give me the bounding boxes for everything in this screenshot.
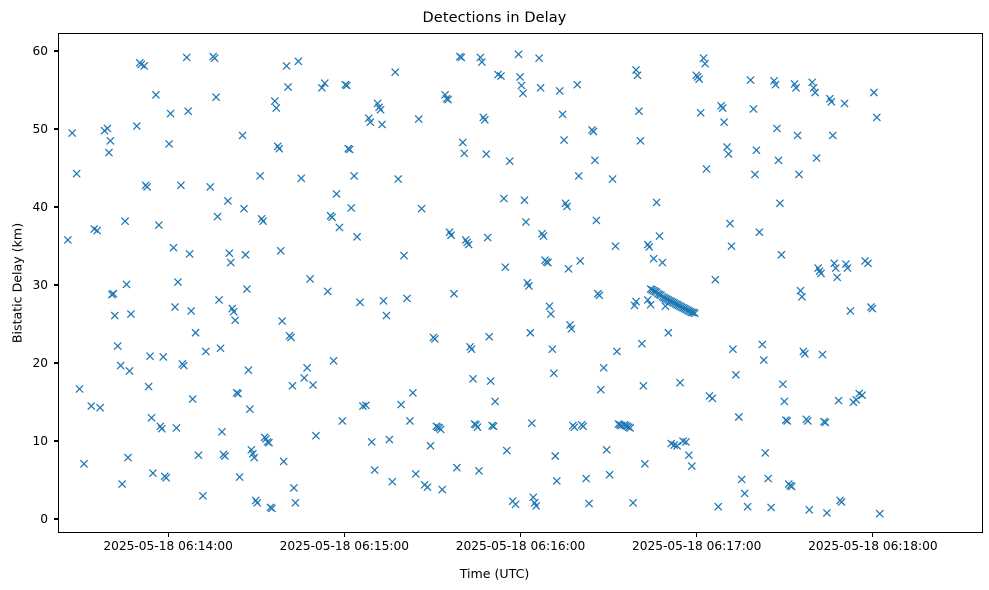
data-point-marker	[283, 63, 290, 69]
data-point-marker	[642, 461, 649, 468]
data-point-marker	[741, 490, 748, 497]
data-point-marker	[483, 151, 490, 158]
data-point-marker	[750, 106, 757, 113]
data-point-marker	[313, 432, 320, 439]
data-point-marker	[380, 298, 387, 305]
data-point-marker	[819, 351, 826, 358]
data-point-marker	[847, 308, 854, 315]
data-point-marker	[640, 383, 647, 390]
y-tick-mark	[54, 50, 58, 51]
data-point-marker	[123, 281, 130, 288]
data-point-marker	[486, 333, 493, 340]
data-point-marker	[141, 63, 148, 69]
data-point-marker	[665, 330, 672, 337]
data-point-marker	[548, 311, 555, 318]
data-point-marker	[69, 130, 76, 137]
data-point-marker	[232, 317, 239, 324]
data-point-marker	[677, 379, 684, 386]
data-point-marker	[217, 345, 224, 352]
data-point-marker	[122, 218, 129, 225]
data-point-marker	[727, 220, 734, 227]
data-point-marker	[583, 475, 590, 482]
data-point-marker	[484, 234, 491, 241]
y-tick-mark	[54, 440, 58, 441]
x-tick-label: 2025-05-18 06:15:00	[280, 539, 409, 553]
data-point-marker	[830, 132, 837, 139]
data-point-marker	[213, 94, 220, 101]
data-point-marker	[476, 468, 483, 475]
data-point-marker	[586, 500, 593, 507]
data-point-marker	[736, 414, 743, 421]
data-point-marker	[703, 166, 710, 173]
data-point-marker	[241, 205, 248, 212]
data-point-marker	[76, 386, 83, 393]
data-point-marker	[254, 500, 261, 507]
data-point-marker	[307, 276, 314, 283]
data-point-marker	[738, 476, 745, 483]
data-point-marker	[577, 258, 584, 265]
data-point-marker	[128, 311, 135, 318]
data-point-marker	[94, 227, 101, 234]
data-point-marker	[859, 392, 866, 399]
data-point-marker	[178, 182, 185, 189]
data-point-marker	[523, 219, 530, 226]
data-point-marker	[504, 447, 511, 454]
data-point-marker	[835, 397, 842, 404]
data-point-marker	[759, 341, 766, 348]
x-tick-label: 2025-05-18 06:16:00	[456, 539, 585, 553]
data-point-marker	[646, 244, 653, 251]
data-point-marker	[733, 372, 740, 379]
data-point-marker	[520, 90, 527, 97]
data-point-marker	[689, 463, 696, 470]
x-tick-mark	[696, 533, 697, 537]
data-point-marker	[351, 173, 358, 180]
data-point-marker	[279, 318, 286, 325]
y-tick-mark	[54, 362, 58, 363]
data-point-marker	[119, 481, 125, 488]
scatter-layer	[59, 34, 983, 533]
data-point-marker	[813, 155, 820, 162]
data-point-marker	[160, 354, 167, 361]
data-point-marker	[556, 88, 563, 95]
data-point-marker	[65, 237, 72, 244]
data-point-marker	[418, 205, 425, 212]
data-point-marker	[515, 51, 522, 58]
data-point-marker	[697, 110, 704, 117]
data-point-marker	[106, 149, 113, 156]
data-point-marker	[831, 260, 838, 267]
data-point-marker	[468, 346, 475, 353]
data-point-marker	[865, 260, 872, 267]
data-point-marker	[517, 74, 524, 81]
data-point-marker	[756, 229, 763, 236]
data-point-marker	[97, 404, 104, 411]
data-point-marker	[415, 116, 422, 123]
data-point-marker	[780, 381, 787, 388]
data-point-marker	[559, 111, 566, 118]
data-point-marker	[747, 77, 754, 84]
data-point-marker	[189, 396, 196, 403]
data-point-marker	[492, 398, 499, 405]
data-point-marker	[401, 252, 408, 259]
data-point-marker	[721, 119, 728, 126]
data-point-marker	[871, 89, 878, 96]
data-point-marker	[507, 158, 514, 165]
data-point-marker	[874, 114, 881, 121]
data-point-marker	[540, 233, 547, 240]
data-point-marker	[292, 500, 299, 507]
data-point-marker	[806, 507, 813, 514]
data-point-marker	[159, 425, 166, 432]
data-point-marker	[247, 406, 254, 413]
data-point-marker	[796, 171, 803, 178]
data-point-marker	[775, 157, 782, 164]
data-point-marker	[324, 288, 331, 295]
data-point-marker	[552, 453, 559, 460]
data-point-marker	[461, 150, 468, 157]
data-point-marker	[379, 121, 386, 128]
data-point-marker	[606, 471, 613, 478]
data-point-marker	[659, 259, 666, 266]
data-point-marker	[712, 276, 719, 283]
y-tick-label: 30	[0, 278, 48, 292]
y-tick-mark	[54, 206, 58, 207]
x-axis-label: Time (UTC)	[0, 566, 989, 581]
data-point-marker	[810, 85, 817, 92]
data-point-marker	[214, 213, 221, 220]
data-point-marker	[479, 59, 486, 66]
data-point-marker	[280, 458, 287, 465]
data-point-marker	[298, 175, 305, 182]
data-point-marker	[565, 266, 572, 273]
data-point-marker	[498, 73, 505, 80]
data-point-marker	[460, 139, 467, 146]
data-point-marker	[383, 312, 390, 319]
data-point-marker	[686, 452, 693, 459]
data-point-marker	[134, 123, 141, 130]
data-point-marker	[551, 370, 558, 377]
data-point-marker	[518, 82, 525, 89]
data-point-marker	[609, 176, 616, 183]
x-tick-label: 2025-05-18 06:14:00	[103, 539, 232, 553]
data-point-marker	[260, 218, 267, 225]
data-point-marker	[502, 264, 509, 271]
data-point-marker	[291, 485, 298, 492]
data-point-marker	[244, 286, 251, 293]
data-point-marker	[104, 125, 111, 132]
data-point-marker	[310, 382, 317, 389]
data-point-marker	[166, 141, 173, 148]
chart-title: Detections in Delay	[0, 10, 989, 26]
data-point-marker	[812, 89, 819, 96]
data-point-marker	[715, 503, 722, 510]
data-point-marker	[774, 125, 781, 132]
y-tick-label: 10	[0, 434, 48, 448]
data-point-marker	[802, 351, 809, 358]
data-point-marker	[877, 510, 884, 516]
data-point-marker	[203, 348, 210, 355]
data-point-marker	[592, 157, 599, 164]
data-point-marker	[407, 418, 414, 425]
data-point-marker	[574, 81, 581, 88]
data-point-marker	[482, 117, 489, 124]
data-point-marker	[295, 58, 302, 65]
data-point-marker	[236, 474, 243, 481]
data-point-marker	[173, 425, 180, 432]
data-point-marker	[777, 200, 784, 207]
y-tick-label: 50	[0, 122, 48, 136]
data-point-marker	[301, 375, 308, 382]
data-point-marker	[242, 252, 249, 259]
data-point-marker	[603, 447, 610, 454]
data-point-marker	[371, 467, 378, 474]
x-tick-mark	[872, 533, 873, 537]
data-point-marker	[170, 244, 177, 251]
data-point-marker	[765, 475, 772, 482]
data-point-marker	[593, 217, 600, 224]
data-point-marker	[185, 108, 192, 115]
data-point-marker	[148, 415, 155, 422]
data-point-marker	[239, 132, 246, 139]
data-point-marker	[561, 137, 568, 144]
data-point-marker	[709, 395, 716, 402]
data-point-marker	[183, 54, 190, 61]
data-point-marker	[744, 503, 751, 510]
y-tick-mark	[54, 284, 58, 285]
data-point-marker	[413, 471, 420, 478]
x-tick-label: 2025-05-18 06:18:00	[808, 539, 937, 553]
data-point-marker	[276, 145, 283, 152]
data-point-marker	[257, 173, 264, 180]
data-point-marker	[824, 510, 831, 517]
data-point-marker	[600, 365, 607, 372]
data-point-marker	[195, 452, 202, 459]
data-point-marker	[598, 386, 605, 393]
data-point-marker	[728, 243, 735, 250]
data-point-marker	[639, 340, 646, 347]
data-point-marker	[395, 176, 402, 183]
data-point-marker	[549, 346, 556, 353]
data-point-marker	[88, 403, 95, 410]
data-point-marker	[175, 279, 182, 286]
data-point-marker	[501, 195, 508, 202]
data-point-marker	[207, 184, 214, 191]
y-tick-label: 60	[0, 44, 48, 58]
data-point-marker	[521, 197, 528, 204]
data-point-marker	[125, 454, 132, 461]
data-point-marker	[330, 358, 337, 365]
data-point-marker	[725, 151, 732, 158]
matplotlib-figure: Detections in Delay Bistatic Delay (km) …	[0, 0, 989, 590]
data-point-marker	[636, 108, 643, 115]
data-point-marker	[112, 312, 119, 319]
y-tick-mark	[54, 128, 58, 129]
data-point-marker	[167, 110, 174, 117]
data-point-marker	[377, 106, 384, 113]
data-point-marker	[781, 398, 788, 405]
data-point-marker	[272, 98, 279, 105]
data-point-marker	[81, 461, 88, 468]
data-point-marker	[753, 147, 760, 154]
data-point-marker	[289, 383, 296, 390]
data-point-marker	[662, 303, 669, 310]
data-point-marker	[348, 205, 355, 212]
data-point-marker	[107, 138, 114, 145]
data-point-marker	[188, 308, 195, 315]
data-point-marker	[797, 287, 804, 294]
data-point-marker	[650, 255, 657, 262]
data-point-marker	[477, 54, 484, 61]
data-point-marker	[336, 224, 343, 231]
data-point-marker	[225, 198, 232, 205]
data-point-marker	[612, 243, 619, 250]
data-point-marker	[424, 484, 431, 491]
data-point-marker	[333, 191, 340, 198]
data-point-marker	[752, 171, 759, 178]
x-tick-mark	[520, 533, 521, 537]
data-point-marker	[427, 443, 434, 450]
data-point-marker	[512, 501, 519, 508]
data-point-marker	[487, 378, 494, 385]
data-point-marker	[527, 330, 534, 337]
data-point-marker	[637, 138, 644, 145]
data-point-marker	[853, 397, 860, 404]
data-point-marker	[546, 303, 553, 310]
data-point-marker	[529, 420, 536, 427]
data-point-marker	[614, 348, 621, 355]
data-point-marker	[630, 500, 637, 507]
y-tick-label: 20	[0, 356, 48, 370]
data-point-marker	[117, 362, 124, 369]
data-point-marker	[536, 55, 543, 62]
data-point-marker	[768, 504, 775, 511]
data-point-marker	[451, 291, 458, 298]
data-point-marker	[474, 424, 481, 431]
data-point-marker	[357, 299, 364, 306]
data-point-marker	[778, 252, 785, 259]
data-point-marker	[216, 297, 223, 304]
data-point-marker	[73, 170, 80, 177]
data-point-marker	[273, 105, 280, 112]
data-point-marker	[192, 330, 199, 337]
data-point-marker	[126, 368, 133, 375]
data-point-marker	[285, 84, 292, 91]
data-point-marker	[724, 144, 731, 151]
data-point-marker	[186, 251, 193, 258]
data-point-marker	[799, 294, 806, 301]
data-point-marker	[730, 346, 737, 353]
data-point-marker	[553, 478, 560, 485]
data-point-marker	[761, 357, 768, 364]
data-point-marker	[368, 439, 375, 446]
data-point-marker	[454, 464, 461, 471]
y-tick-label: 0	[0, 512, 48, 526]
data-point-marker	[656, 233, 663, 240]
y-tick-mark	[54, 518, 58, 519]
data-point-marker	[386, 436, 393, 443]
data-point-marker	[702, 60, 709, 67]
data-point-marker	[153, 92, 160, 99]
data-point-marker	[719, 105, 726, 112]
data-point-marker	[404, 295, 411, 302]
data-point-marker	[410, 390, 417, 397]
data-point-marker	[147, 353, 154, 360]
data-point-marker	[228, 259, 235, 266]
data-point-marker	[226, 250, 233, 257]
data-point-marker	[354, 234, 361, 241]
data-point-marker	[794, 132, 801, 139]
x-tick-label: 2025-05-18 06:17:00	[632, 539, 761, 553]
data-point-marker	[114, 343, 121, 350]
data-point-marker	[537, 85, 544, 92]
data-point-marker	[219, 429, 226, 436]
data-point-marker	[841, 100, 848, 107]
data-point-marker	[156, 222, 163, 229]
data-point-marker	[653, 199, 660, 206]
data-point-marker	[339, 418, 346, 425]
data-point-marker	[439, 486, 446, 493]
data-point-marker	[200, 493, 207, 500]
data-point-marker	[576, 173, 583, 180]
data-point-marker	[145, 383, 152, 390]
data-point-marker	[392, 69, 399, 76]
plot-axes	[58, 33, 983, 533]
x-tick-mark	[344, 533, 345, 537]
data-point-marker	[762, 450, 769, 457]
data-point-marker	[398, 401, 405, 408]
data-point-marker	[389, 478, 396, 485]
data-point-marker	[470, 376, 477, 383]
x-tick-mark	[168, 533, 169, 537]
data-point-marker	[172, 304, 179, 311]
y-tick-label: 40	[0, 200, 48, 214]
data-point-marker	[304, 365, 311, 372]
data-point-marker	[832, 265, 839, 272]
data-point-marker	[834, 274, 841, 281]
data-point-marker	[245, 367, 252, 374]
data-point-marker	[696, 76, 703, 83]
data-point-marker	[634, 72, 641, 79]
data-point-marker	[277, 248, 284, 255]
data-point-marker	[150, 470, 157, 477]
